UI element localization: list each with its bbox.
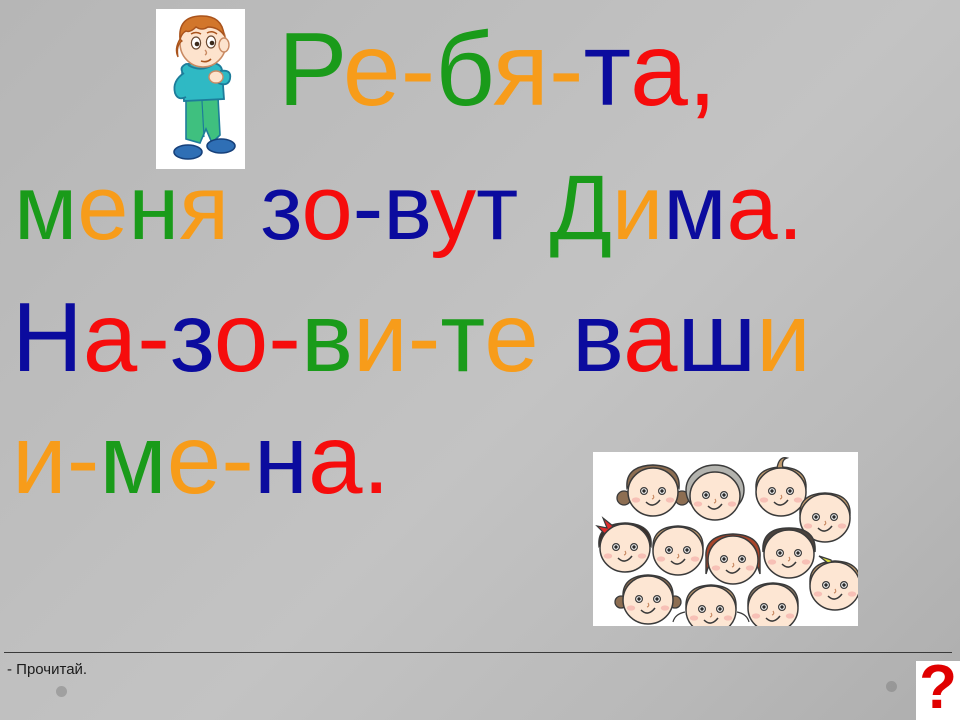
colored-letter: - xyxy=(137,282,170,392)
colored-letter: в xyxy=(572,282,623,392)
colored-letter: - xyxy=(221,404,254,514)
colored-letter: а xyxy=(83,282,138,392)
colored-letter: е xyxy=(343,12,401,128)
colored-letter: а xyxy=(623,282,678,392)
slide-canvas: Ре-бя-та, менязо-вутДима. На-зо-ви-теваш… xyxy=(0,0,960,720)
colored-letter: е xyxy=(484,282,539,392)
colored-letter: м xyxy=(99,404,166,514)
colored-letter: е xyxy=(77,157,128,259)
colored-letter: б xyxy=(435,12,492,128)
colored-letter: - xyxy=(268,282,301,392)
colored-letter: . xyxy=(778,157,804,259)
colored-letter: и xyxy=(353,282,408,392)
text-line-2: менязо-вутДима. xyxy=(14,162,803,254)
colored-letter: Н xyxy=(12,282,83,392)
question-mark-glyph: ? xyxy=(916,661,960,719)
colored-letter: и xyxy=(756,282,811,392)
text-line-4: и-ме-на. xyxy=(12,410,390,508)
colored-letter: . xyxy=(363,404,390,514)
colored-letter: о xyxy=(301,157,352,259)
colored-letter: ш xyxy=(678,282,757,392)
colored-letter: т xyxy=(440,282,484,392)
colored-letter: я xyxy=(493,12,549,128)
colored-letter: и xyxy=(612,157,663,259)
decorative-dot-right xyxy=(886,681,897,692)
colored-letter: в xyxy=(383,157,430,259)
colored-letter: и xyxy=(12,404,67,514)
colored-letter: а xyxy=(308,404,363,514)
colored-letter: - xyxy=(67,404,100,514)
colored-letter: - xyxy=(401,12,436,128)
colored-letter: з xyxy=(260,157,301,259)
colored-letter: - xyxy=(549,12,584,128)
colored-letter: , xyxy=(688,12,717,128)
colored-letter: Д xyxy=(550,157,612,259)
colored-letter: - xyxy=(408,282,441,392)
footer-note: - Прочитай. xyxy=(7,661,87,678)
decorative-dot-left xyxy=(56,686,67,697)
colored-letter: в xyxy=(301,282,353,392)
colored-letter: м xyxy=(663,157,726,259)
colored-letter: н xyxy=(254,404,308,514)
colored-letter: а xyxy=(630,12,688,128)
children-faces-clipart xyxy=(593,452,858,626)
colored-letter: о xyxy=(214,282,269,392)
text-line-1: Ре-бя-та, xyxy=(278,18,717,122)
colored-letter: а xyxy=(727,157,778,259)
colored-letter: н xyxy=(128,157,179,259)
text-line-3: На-зо-ви-теваши xyxy=(12,288,811,386)
footer-divider xyxy=(4,652,952,653)
colored-letter: з xyxy=(170,282,214,392)
colored-letter: Р xyxy=(278,12,343,128)
colored-letter: т xyxy=(584,12,630,128)
colored-letter: я xyxy=(179,157,229,259)
red-question-mark-icon[interactable]: ? xyxy=(916,661,960,720)
colored-letter: у xyxy=(430,157,476,259)
colored-letter: т xyxy=(476,157,518,259)
colored-letter: м xyxy=(14,157,77,259)
colored-letter: е xyxy=(167,404,222,514)
boy-thinking-clipart xyxy=(156,9,245,169)
colored-letter: - xyxy=(353,157,384,259)
